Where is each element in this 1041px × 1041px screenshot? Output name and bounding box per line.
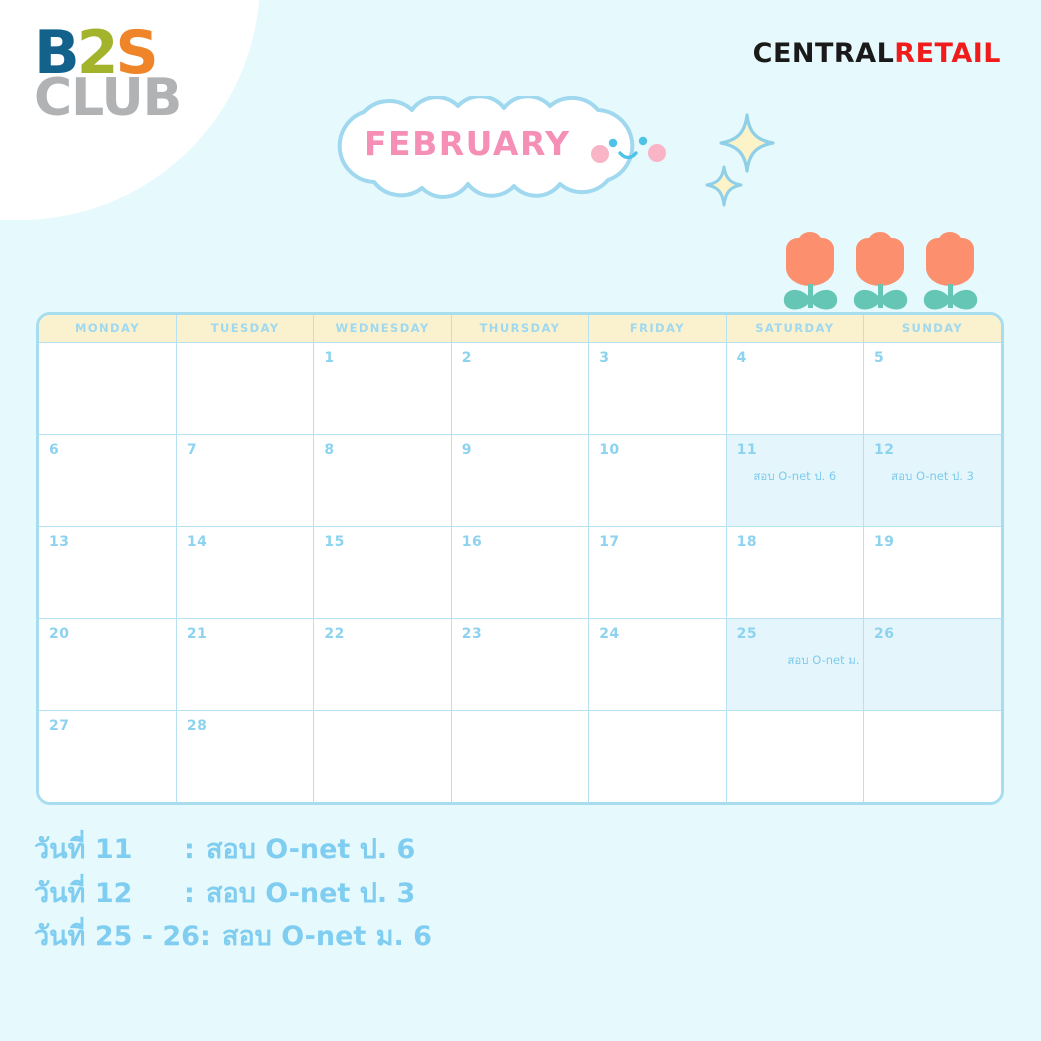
day-number: 20 [49,626,69,642]
legend-day-label: วันที่ 11 [34,828,184,872]
legend-description: สอบ O-net ม. 6 [222,915,432,959]
calendar-day-cell-18[interactable]: 18 [726,526,863,618]
calendar-empty-cell [176,342,313,434]
calendar-empty-cell [314,710,451,802]
day-number: 18 [737,534,757,550]
calendar-week-row: 202122232425สอบ O-net ม. 626 [39,618,1001,710]
weekday-header-thursday: THURSDAY [451,315,588,342]
day-number: 5 [874,350,884,366]
day-number: 24 [599,626,619,642]
tulip-flower-icon [778,228,843,316]
b2s-club-logo: B2S CLUB [34,28,181,120]
day-number: 3 [599,350,609,366]
calendar-body: 1234567891011สอบ O-net ป. 612สอบ O-net ป… [39,342,1001,802]
calendar-day-cell-17[interactable]: 17 [589,526,726,618]
wordmark-central: CENTRAL [753,38,895,69]
day-event-label: สอบ O-net ป. 6 [727,468,863,486]
day-number: 11 [737,442,757,458]
calendar-day-cell-26[interactable]: 26 [864,618,1001,710]
calendar-empty-cell [451,710,588,802]
sparkle-small-icon [704,164,744,213]
legend-day-label: วันที่ 12 [34,872,184,916]
calendar-empty-cell [39,342,176,434]
weekday-header-sunday: SUNDAY [864,315,1001,342]
calendar-day-cell-15[interactable]: 15 [314,526,451,618]
day-number: 10 [599,442,619,458]
day-number: 26 [874,626,894,642]
legend-day-label: วันที่ 25 - 26 [34,915,200,959]
calendar-day-cell-4[interactable]: 4 [726,342,863,434]
calendar-day-cell-25[interactable]: 25สอบ O-net ม. 6 [726,618,863,710]
calendar-day-cell-6[interactable]: 6 [39,434,176,526]
legend-row: วันที่ 12:สอบ O-net ป. 3 [34,872,432,916]
month-cloud-banner: FEBRUARY [312,96,702,200]
calendar-week-row: 67891011สอบ O-net ป. 612สอบ O-net ป. 3 [39,434,1001,526]
day-number: 9 [462,442,472,458]
day-number: 6 [49,442,59,458]
calendar-day-cell-21[interactable]: 21 [176,618,313,710]
calendar-day-cell-11[interactable]: 11สอบ O-net ป. 6 [726,434,863,526]
calendar-week-row: 2728 [39,710,1001,802]
legend-description: สอบ O-net ป. 6 [206,828,415,872]
tulip-flower-icon [848,228,913,316]
event-legend: วันที่ 11:สอบ O-net ป. 6วันที่ 12:สอบ O-… [34,828,432,959]
weekday-header-saturday: SATURDAY [726,315,863,342]
day-number: 1 [324,350,334,366]
tulip-decoration-row [778,228,983,316]
day-number: 28 [187,718,207,734]
day-number: 21 [187,626,207,642]
day-number: 15 [324,534,344,550]
legend-row: วันที่ 11:สอบ O-net ป. 6 [34,828,432,872]
calendar-day-cell-28[interactable]: 28 [176,710,313,802]
day-number: 23 [462,626,482,642]
day-number: 22 [324,626,344,642]
calendar-week-row: 12345 [39,342,1001,434]
calendar-header-row: MONDAYTUESDAYWEDNESDAYTHURSDAYFRIDAYSATU… [39,315,1001,342]
calendar-day-cell-22[interactable]: 22 [314,618,451,710]
calendar-day-cell-5[interactable]: 5 [864,342,1001,434]
cloud-face-right-eye [639,137,647,145]
day-number: 27 [49,718,69,734]
day-event-label: สอบ O-net ป. 3 [864,468,1001,486]
calendar-day-cell-2[interactable]: 2 [451,342,588,434]
calendar-day-cell-24[interactable]: 24 [589,618,726,710]
day-number: 4 [737,350,747,366]
tulip-flower-icon [918,228,983,316]
legend-separator: : [200,915,222,959]
calendar-day-cell-8[interactable]: 8 [314,434,451,526]
legend-row: วันที่ 25 - 26:สอบ O-net ม. 6 [34,915,432,959]
day-number: 2 [462,350,472,366]
calendar-day-cell-13[interactable]: 13 [39,526,176,618]
calendar-day-cell-9[interactable]: 9 [451,434,588,526]
wordmark-retail: RETAIL [894,38,1001,69]
calendar-grid: MONDAYTUESDAYWEDNESDAYTHURSDAYFRIDAYSATU… [36,312,1004,805]
calendar-day-cell-16[interactable]: 16 [451,526,588,618]
calendar-day-cell-3[interactable]: 3 [589,342,726,434]
calendar-day-cell-20[interactable]: 20 [39,618,176,710]
day-number: 25 [737,626,757,642]
day-number: 12 [874,442,894,458]
day-number: 13 [49,534,69,550]
calendar-day-cell-7[interactable]: 7 [176,434,313,526]
calendar-day-cell-23[interactable]: 23 [451,618,588,710]
calendar-day-cell-14[interactable]: 14 [176,526,313,618]
cloud-face-right-cheek [648,144,666,162]
calendar-day-cell-27[interactable]: 27 [39,710,176,802]
calendar-day-cell-1[interactable]: 1 [314,342,451,434]
calendar-table: MONDAYTUESDAYWEDNESDAYTHURSDAYFRIDAYSATU… [39,315,1001,802]
calendar-week-row: 13141516171819 [39,526,1001,618]
day-number: 7 [187,442,197,458]
legend-description: สอบ O-net ป. 3 [206,872,415,916]
legend-separator: : [184,828,206,872]
calendar-empty-cell [726,710,863,802]
weekday-header-wednesday: WEDNESDAY [314,315,451,342]
central-retail-wordmark: CENTRALRETAIL [753,38,1001,69]
cloud-face-left-cheek [591,145,609,163]
calendar-day-cell-19[interactable]: 19 [864,526,1001,618]
day-number: 19 [874,534,894,550]
day-number: 17 [599,534,619,550]
calendar-empty-cell [864,710,1001,802]
cloud-face-left-eye [609,139,617,147]
day-number: 8 [324,442,334,458]
month-title: FEBRUARY [364,124,570,163]
logo-club-text: CLUB [34,76,181,121]
weekday-header-monday: MONDAY [39,315,176,342]
calendar-day-cell-10[interactable]: 10 [589,434,726,526]
calendar-day-cell-12[interactable]: 12สอบ O-net ป. 3 [864,434,1001,526]
day-number: 14 [187,534,207,550]
legend-separator: : [184,872,206,916]
weekday-header-tuesday: TUESDAY [176,315,313,342]
calendar-empty-cell [589,710,726,802]
weekday-header-friday: FRIDAY [589,315,726,342]
day-number: 16 [462,534,482,550]
